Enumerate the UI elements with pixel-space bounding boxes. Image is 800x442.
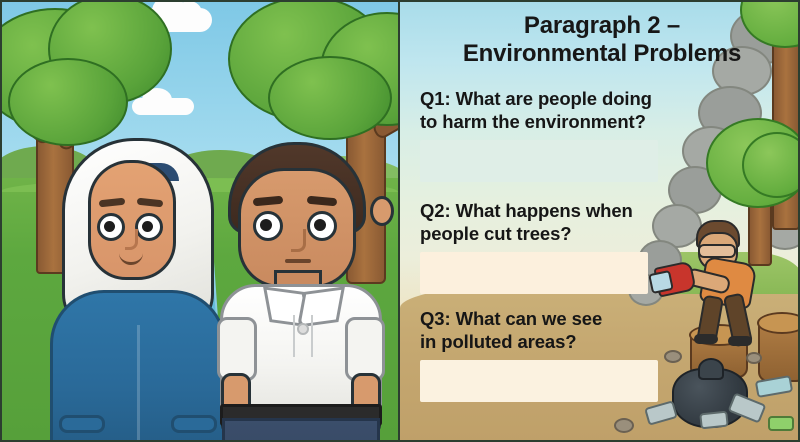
question-block-q1: Q1: What are people doing to harm the en… <box>420 88 698 182</box>
answer-box-q2[interactable] <box>420 252 648 294</box>
eye-icon <box>97 213 125 241</box>
girl-character <box>44 138 224 442</box>
eye-icon <box>135 213 163 241</box>
questions-panel: Paragraph 2 – Environmental Problems Q1:… <box>400 0 800 442</box>
answer-box-q1[interactable] <box>420 140 658 182</box>
question-text-q1: Q1: What are people doing to harm the en… <box>420 88 698 133</box>
girl-face <box>88 160 176 280</box>
boy-character <box>212 142 384 442</box>
question-text-q2: Q2: What happens when people cut trees? <box>420 200 682 245</box>
boy-polo-shirt <box>220 284 382 418</box>
title-line-1: Paragraph 2 – <box>410 12 794 40</box>
worksheet-slide: Paragraph 2 – Environmental Problems Q1:… <box>0 0 800 442</box>
boy-trousers <box>222 418 380 442</box>
title-line-2: Environmental Problems <box>410 40 794 68</box>
illustration-clean-nature <box>0 0 400 442</box>
page-title: Paragraph 2 – Environmental Problems <box>410 12 794 68</box>
answer-box-q3[interactable] <box>420 360 658 402</box>
text-content-layer: Paragraph 2 – Environmental Problems Q1:… <box>400 0 800 442</box>
girl-dress <box>50 290 226 442</box>
question-text-q3: Q3: What can we see in polluted areas? <box>420 308 682 353</box>
question-block-q2: Q2: What happens when people cut trees? <box>420 200 682 294</box>
eye-icon <box>253 211 283 241</box>
eye-icon <box>307 211 337 241</box>
question-block-q3: Q3: What can we see in polluted areas? <box>420 308 682 402</box>
cloud-icon <box>132 98 194 115</box>
